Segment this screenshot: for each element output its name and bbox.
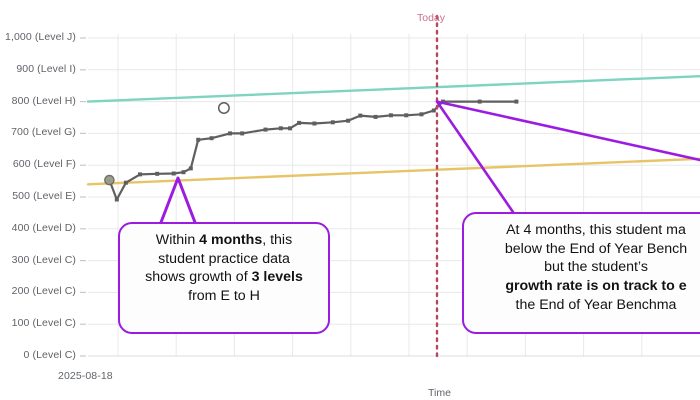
data-point-marker	[514, 100, 518, 104]
data-point-marker	[155, 172, 159, 176]
callout-text: Within	[156, 232, 199, 248]
data-point-marker	[210, 136, 214, 140]
data-point-marker	[389, 113, 393, 117]
data-point-marker	[182, 170, 186, 174]
callout-line: student practice data	[130, 250, 318, 269]
y-axis-tick-label: 600 (Level F)	[13, 158, 76, 170]
series-line-student-practice-data	[109, 102, 516, 200]
callout-text: below the End of Year Bench	[505, 241, 687, 257]
y-axis-tick-label: 1,000 (Level J)	[5, 31, 76, 43]
y-axis-tick-label: 900 (Level I)	[16, 63, 76, 75]
y-axis-tick-label: 300 (Level C)	[12, 254, 76, 266]
callout-emphasis: 3 levels	[252, 269, 303, 285]
callout-text: the End of Year Benchma	[516, 297, 677, 313]
callout-line: below the End of Year Bench	[474, 240, 700, 259]
data-point-marker	[240, 131, 244, 135]
y-axis-tick-label: 0 (Level C)	[24, 349, 76, 361]
data-point-marker	[374, 115, 378, 119]
callout-line: from E to H	[130, 287, 318, 306]
callout-emphasis: 4 months	[199, 232, 262, 248]
callout-line: At 4 months, this student ma	[474, 221, 700, 240]
callout-line: growth rate is on track to e	[474, 277, 700, 296]
callout-line: the End of Year Benchma	[474, 296, 700, 315]
benchmark-callout: At 4 months, this student mabelow the En…	[462, 212, 700, 334]
y-axis-tick-label: 700 (Level G)	[11, 126, 76, 138]
y-axis-tick-label: 800 (Level H)	[12, 95, 76, 107]
callout-text: but the student’s	[544, 259, 648, 275]
callout-pointer-upper	[437, 102, 700, 160]
data-point-open-circle	[219, 103, 229, 113]
chart-container: 1,000 (Level J)900 (Level I)800 (Level H…	[0, 0, 700, 400]
growth-callout: Within 4 months, thisstudent practice da…	[118, 222, 330, 334]
data-point-marker	[331, 120, 335, 124]
callout-text: At 4 months, this student ma	[506, 222, 686, 238]
data-point-marker	[312, 122, 316, 126]
data-point-marker	[420, 112, 424, 116]
data-point-marker	[189, 166, 193, 170]
data-point-marker	[115, 198, 119, 202]
callout-pointer-lower	[437, 102, 513, 212]
today-annotation-label: Today	[417, 12, 445, 24]
data-point-marker	[228, 131, 232, 135]
callout-emphasis: growth rate is on track to e	[505, 278, 686, 294]
callout-text: from E to H	[188, 288, 260, 304]
data-point-marker	[138, 172, 142, 176]
callout-text: student practice data	[158, 251, 290, 267]
callout-line: shows growth of 3 levels	[130, 268, 318, 287]
callout-text: , this	[262, 232, 292, 248]
y-axis-tick-label: 500 (Level E)	[12, 190, 76, 202]
data-point-marker	[404, 113, 408, 117]
data-point-marker	[432, 109, 436, 113]
callout-line: Within 4 months, this	[130, 231, 318, 250]
data-point-marker	[279, 126, 283, 130]
data-point-start-marker	[105, 176, 114, 185]
callout-line: but the student’s	[474, 258, 700, 277]
y-axis-tick-label: 200 (Level C)	[12, 285, 76, 297]
series-line-end-of-year-benchmark	[88, 76, 700, 101]
data-point-marker	[196, 138, 200, 142]
data-point-marker	[288, 126, 292, 130]
y-axis-tick-label: 100 (Level C)	[12, 317, 76, 329]
data-point-marker	[478, 100, 482, 104]
data-point-marker	[297, 121, 301, 125]
data-point-marker	[124, 181, 128, 185]
data-point-marker	[358, 114, 362, 118]
chart-plot-svg	[0, 0, 700, 400]
x-axis-tick-label: 2025-08-18	[58, 370, 113, 382]
x-axis-title: Time	[428, 387, 451, 399]
callout-text: shows growth of	[145, 269, 251, 285]
data-point-marker	[264, 128, 268, 132]
data-point-marker	[346, 119, 350, 123]
y-axis-tick-label: 400 (Level D)	[12, 222, 76, 234]
data-point-marker	[172, 172, 176, 176]
